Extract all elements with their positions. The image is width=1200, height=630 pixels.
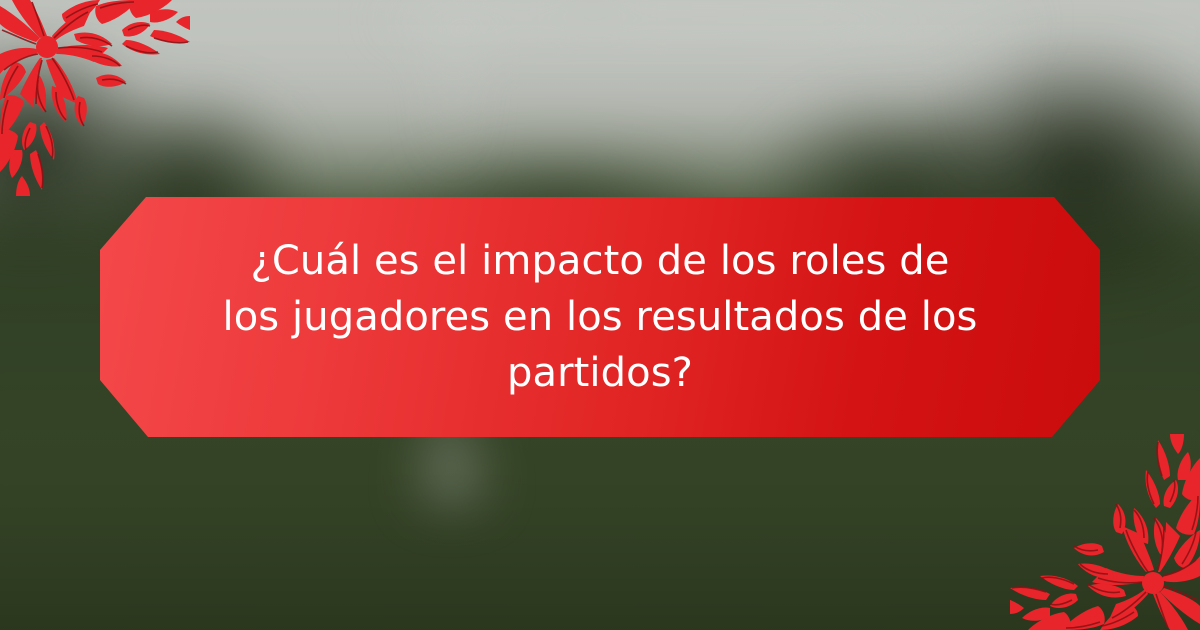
headline-text: ¿Cuál es el impacto de los roles de los … <box>156 233 1044 401</box>
floral-corner-ornament-bottom-right <box>1010 434 1200 630</box>
social-card: ¿Cuál es el impacto de los roles de los … <box>0 0 1200 630</box>
floral-corner-ornament-top-left <box>0 0 190 196</box>
headline-banner: ¿Cuál es el impacto de los roles de los … <box>100 197 1100 437</box>
